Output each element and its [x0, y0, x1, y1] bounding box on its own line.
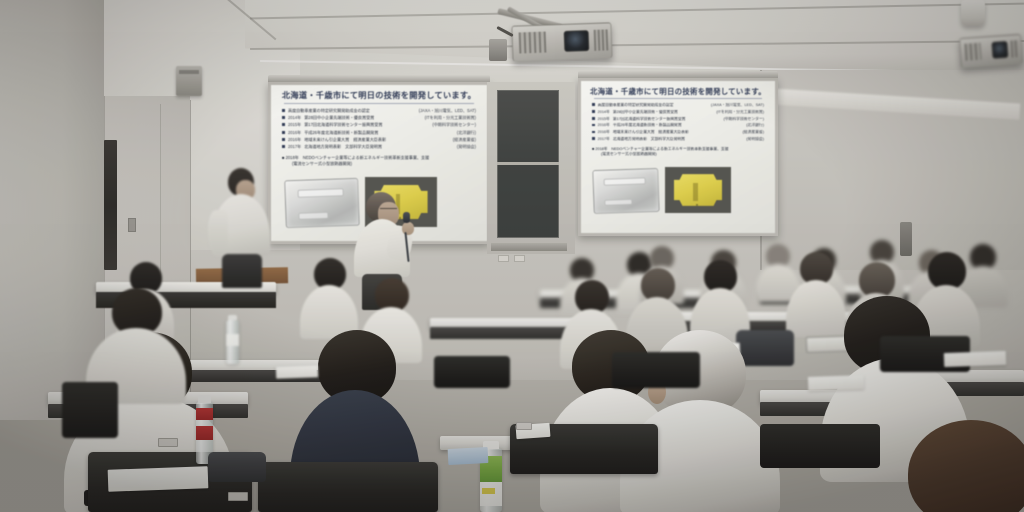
slide-title-underline	[284, 103, 474, 104]
bullet-square-icon	[592, 117, 595, 120]
lecture-room-photo: 北海道・千歳市にて明日の技術を開発しています。 高度自動車産業の特定研究開発助成…	[0, 0, 1024, 512]
assistant-trousers	[222, 254, 262, 288]
bullet-square-icon	[282, 116, 285, 119]
slide-bullet-item: 2014年第28回中小企業先端技術・優良賞受賞(ITを利用・分光工業技術賞)	[282, 115, 476, 121]
bullet-year: 2014年	[288, 115, 301, 121]
bullet-text: 高度自動車産業の特定研究開発助成金の認定	[288, 108, 416, 114]
bullet-text: 第28回中小企業先端技術・優良賞受賞	[613, 110, 713, 116]
blue-handout	[448, 447, 489, 465]
bullet-year: 2017年	[288, 144, 301, 150]
slide-bullet-item: 2016年地域未来けん引企業大賞 経済産業大臣表彰(経済産業省)	[282, 137, 476, 143]
bottle-cap	[198, 395, 211, 402]
bullet-right-note: (ITを利用・分光工業技術賞)	[716, 110, 764, 116]
chair-back	[612, 352, 700, 388]
slide-bullet-item: 2016年平成26年度北海道新技術・新製品開発賞(北洋銀行)	[282, 130, 476, 136]
slide-note-line-2: (電流センサー式小型放熱器開発)	[588, 152, 768, 158]
head-brown-hair	[908, 420, 1024, 512]
bullet-year: 2017年	[598, 137, 610, 143]
board-socket	[498, 255, 509, 262]
slide-title-underline	[594, 98, 762, 99]
bottle-label	[226, 334, 239, 346]
bullet-text: 第17回北海道科学技術センター振興賞受賞	[613, 117, 721, 123]
bullet-text: 北海道地方発明表彰 文部科学大臣発明賞	[304, 144, 454, 150]
standing-assistant	[206, 168, 276, 286]
bullet-text: 北海道地方発明表彰 文部科学大臣発明賞	[613, 137, 743, 143]
desk-socket	[228, 492, 248, 501]
bullet-square-icon	[592, 110, 595, 113]
bullet-text: 第28回中小企業先端技術・優良賞受賞	[304, 115, 421, 121]
bullet-text: 地域未来けん引企業大賞 経済産業大臣表彰	[304, 137, 450, 143]
ceiling-speaker	[961, 0, 985, 26]
projector-power-box	[489, 39, 507, 61]
slide-bullet-item: 高度自動車産業の特定研究開発助成金の認定(JAXA・旭川電気、LED、SAT)	[592, 103, 764, 109]
screen-roller	[578, 71, 778, 78]
bullet-text: 地域未来けん引企業大賞 経済産業大臣表彰	[613, 130, 740, 136]
bullet-year: 2015年	[288, 122, 301, 128]
bottle-label	[196, 408, 213, 420]
slide-bullet-item: 2015年第17回北海道科学技術センター振興賞受賞(中期科学技術センター)	[282, 122, 476, 128]
slide-note-line-2: (電流センサー式小型放熱器開発)	[278, 161, 480, 167]
audience-member	[300, 258, 358, 336]
handout-paper	[276, 365, 318, 378]
slide-title: 北海道・千歳市にて明日の技術を開発しています。	[278, 91, 480, 101]
product-photo-yellow-component	[665, 167, 731, 213]
bullet-right-note: (発明協会)	[457, 144, 476, 150]
board-socket	[514, 255, 525, 262]
chair-back	[62, 382, 118, 438]
ceiling-projector-right	[959, 34, 1023, 68]
bottle-label-accent	[482, 488, 495, 494]
bullet-right-note: (経済産業省)	[453, 137, 476, 143]
board-chalk-tray	[491, 243, 567, 251]
bullet-text: 第17回北海道科学技術センター振興賞受賞	[304, 122, 429, 128]
wall-outlet-plate	[128, 218, 136, 232]
bullet-year: 2016年	[288, 130, 301, 136]
product-photo-metal-housing	[592, 168, 659, 214]
bullet-right-note: (ITを利用・分光工業技術賞)	[425, 115, 476, 121]
bullet-text: 高度自動車産業の特定研究開発助成金の認定	[598, 103, 708, 109]
bullet-square-icon	[592, 131, 595, 134]
assistant-arm	[208, 210, 228, 256]
slide-bullet-item: 2017年北海道地方発明表彰 文部科学大臣発明賞(発明協会)	[592, 137, 764, 143]
bullet-text: 平成26年度北海道新技術・新製品開発賞	[304, 130, 454, 136]
handout-paper	[808, 375, 864, 391]
chair-back	[760, 424, 880, 468]
projector-lens-icon	[992, 41, 1009, 59]
screen-roller	[268, 75, 490, 82]
desk-socket	[516, 422, 532, 430]
bullet-square-icon	[592, 103, 595, 106]
slide-bullet-item: 2015年第17回北海道科学技術センター振興賞受賞(中期科学技術センター)	[592, 117, 764, 123]
projection-screen-right: 北海道・千歳市にて明日の技術を開発しています。 高度自動車産業の特定研究開発助成…	[578, 78, 778, 236]
projector-vent	[964, 43, 982, 61]
bullet-square-icon	[282, 131, 285, 134]
bullet-year: 2016年	[288, 137, 301, 143]
audience-member-bottom-right	[900, 420, 1024, 512]
desk-socket	[158, 438, 178, 447]
slide-right: 北海道・千歳市にて明日の技術を開発しています。 高度自動車産業の特定研究開発助成…	[581, 81, 775, 233]
bullet-square-icon	[282, 109, 285, 112]
bullet-right-note: (JAXA・旭川電気、LED、SAT)	[711, 103, 764, 109]
slide-bullet-item: 2014年第28回中小企業先端技術・優良賞受賞(ITを利用・分光工業技術賞)	[592, 110, 764, 116]
water-bottle	[226, 320, 239, 364]
bullet-right-note: (発明協会)	[746, 137, 764, 143]
ceiling-projector-left	[511, 22, 612, 61]
bullet-square-icon	[592, 124, 595, 127]
presenter-glasses-icon	[380, 208, 397, 212]
projector-lens-icon	[564, 30, 590, 52]
bullet-text: 平成26年度北海道新技術・新製品開発賞	[613, 123, 743, 129]
bullet-square-icon	[282, 138, 285, 141]
wall-speaker	[176, 66, 202, 96]
bullet-right-note: (JAXA・旭川電気、LED、SAT)	[419, 108, 476, 114]
black-shoulder-bag	[208, 452, 266, 482]
bullet-year: 2016年	[598, 130, 610, 136]
bullet-right-note: (北洋銀行)	[457, 130, 476, 136]
slide-photo-row	[593, 167, 731, 213]
bullet-right-note: (北洋銀行)	[746, 123, 764, 129]
door-gap	[104, 140, 117, 270]
slide-bullet-item: 2016年地域未来けん引企業大賞 経済産業大臣表彰(経済産業省)	[592, 130, 764, 136]
slide-bullet-item: 2017年北海道地方発明表彰 文部科学大臣発明賞(発明協会)	[282, 144, 476, 150]
component-lead-wire	[696, 204, 698, 210]
chair-back	[434, 356, 510, 388]
slide-bullet-list: 高度自動車産業の特定研究開発助成金の認定(JAXA・旭川電気、LED、SAT)2…	[588, 103, 768, 143]
slide-bullet-item: 高度自動車産業の特定研究開発助成金の認定(JAXA・旭川電気、LED、SAT)	[282, 108, 476, 114]
yellow-component-shape	[674, 174, 723, 206]
bottle-label	[480, 482, 502, 506]
bullet-year: 2014年	[598, 110, 610, 116]
microphone-icon	[403, 212, 410, 223]
bullet-square-icon	[282, 123, 285, 126]
bottle-label	[196, 426, 213, 440]
bullet-right-note: (中期科学技術センター)	[724, 117, 765, 123]
bullet-year: 2016年	[598, 123, 610, 129]
bullet-right-note: (経済産業省)	[742, 130, 764, 136]
slide-title: 北海道・千歳市にて明日の技術を開発しています。	[588, 87, 768, 96]
bullet-square-icon	[592, 137, 595, 140]
bullet-square-icon	[282, 145, 285, 148]
handout-paper	[108, 466, 209, 491]
bottle-cap	[228, 315, 238, 320]
projector-vent	[519, 32, 547, 54]
projector-vent	[594, 30, 608, 52]
handout-paper	[944, 351, 1006, 367]
board-divider	[497, 162, 559, 165]
projector-vent	[1010, 40, 1020, 58]
bullet-year: 2015年	[598, 117, 610, 123]
bullet-right-note: (中期科学技術センター)	[432, 122, 476, 128]
chair-back	[258, 462, 438, 512]
slide-bullet-list: 高度自動車産業の特定研究開発助成金の認定(JAXA・旭川電気、LED、SAT)2…	[278, 108, 480, 150]
slide-bullet-item: 2016年平成26年度北海道新技術・新製品開発賞(北洋銀行)	[592, 123, 764, 129]
